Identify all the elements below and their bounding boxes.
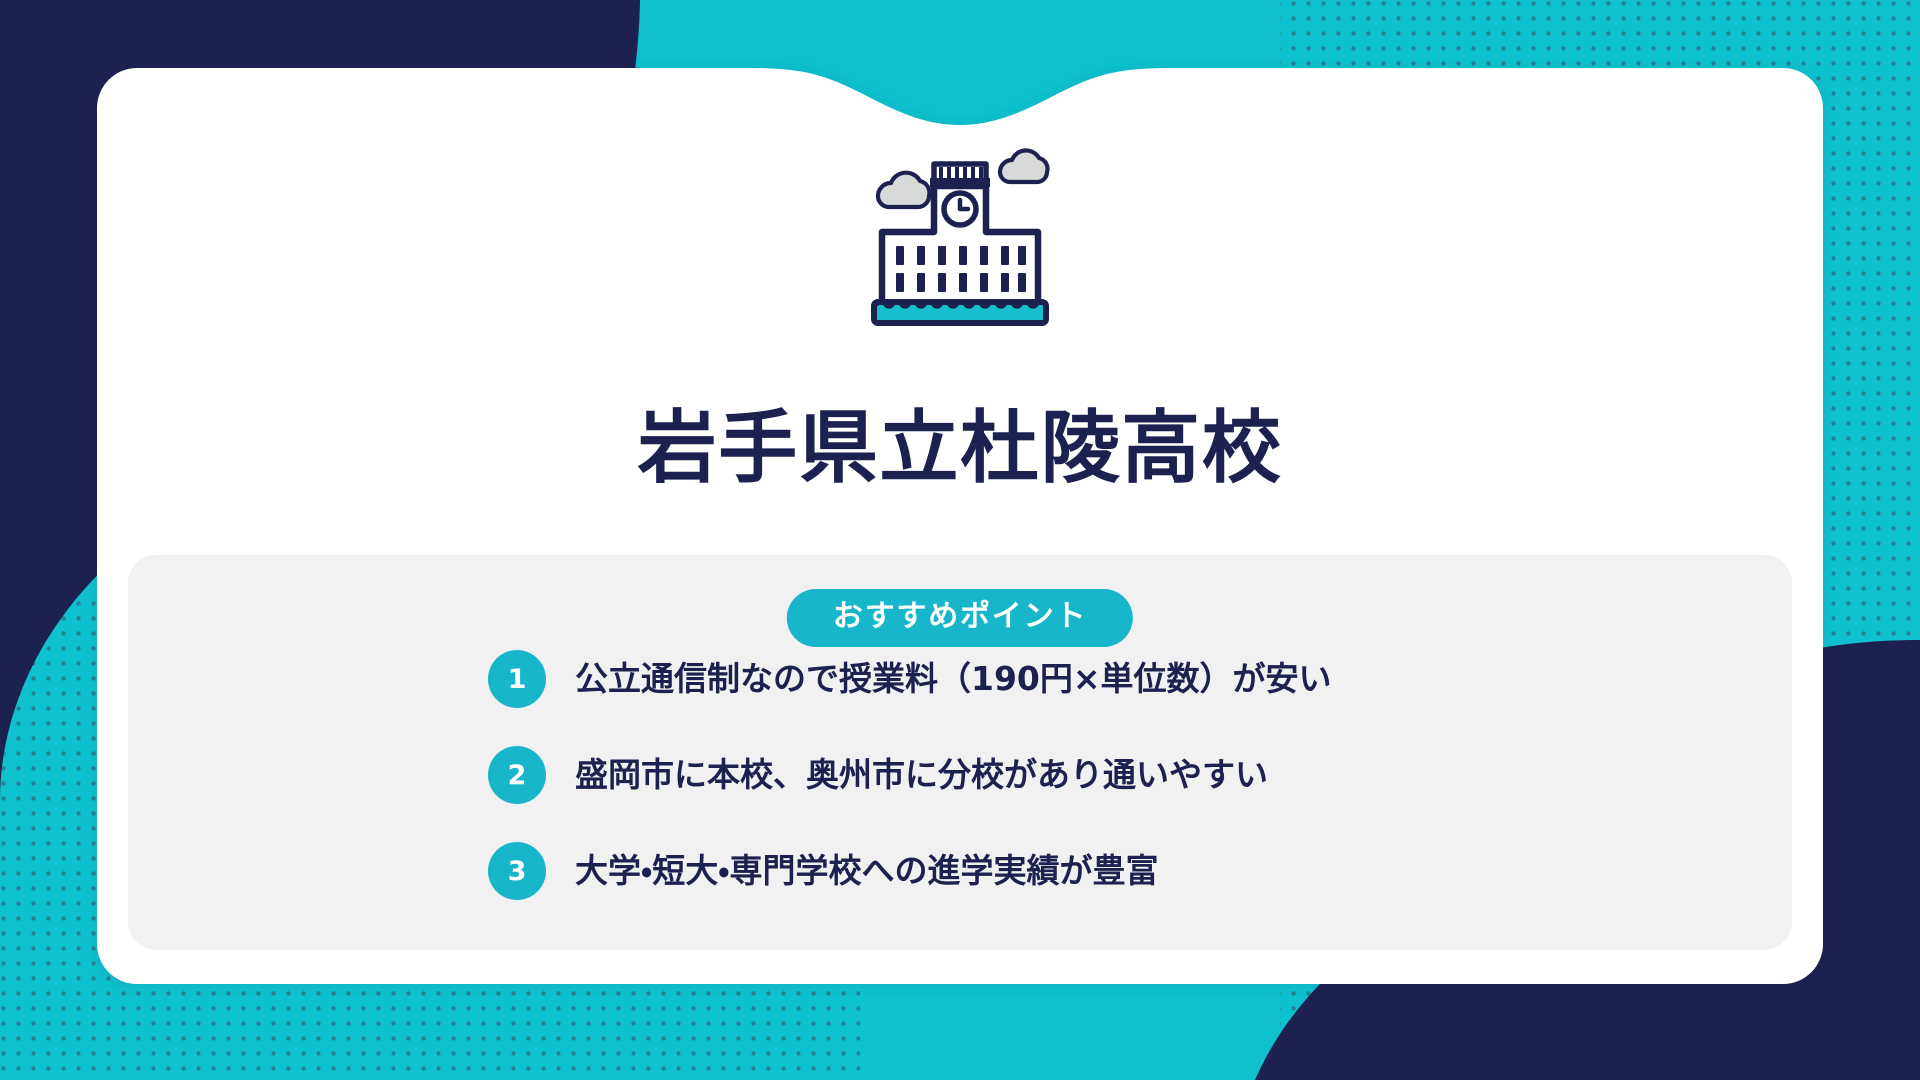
content-card: 岩手県立杜陵高校 1 公立通信制なので授業料（190円×単位数）が安い 2 盛岡… (97, 68, 1823, 984)
status-badge: おすすめポイント (787, 589, 1133, 647)
school-building-icon (860, 142, 1060, 332)
point-number-badge: 3 (488, 842, 546, 900)
cloud-left-icon (878, 173, 929, 207)
page-title: 岩手県立杜陵高校 (97, 409, 1823, 488)
slide-canvas: 岩手県立杜陵高校 1 公立通信制なので授業料（190円×単位数）が安い 2 盛岡… (0, 0, 1920, 1080)
point-text: 大学・短大・専門学校への進学実績が豊富 (575, 850, 1158, 893)
point-number-badge: 2 (488, 746, 546, 804)
cloud-right-icon (1000, 150, 1048, 182)
clock-icon (944, 193, 976, 225)
water-base (874, 302, 1046, 324)
point-number-badge: 1 (488, 650, 546, 708)
roof-detail (930, 164, 990, 187)
point-text: 盛岡市に本校、奥州市に分校があり通いやすい (575, 754, 1268, 797)
list-item: 2 盛岡市に本校、奥州市に分校があり通いやすい (128, 727, 1792, 823)
list-item: 3 大学・短大・専門学校への進学実績が豊富 (128, 823, 1792, 919)
point-text: 公立通信制なので授業料（190円×単位数）が安い (575, 658, 1332, 701)
